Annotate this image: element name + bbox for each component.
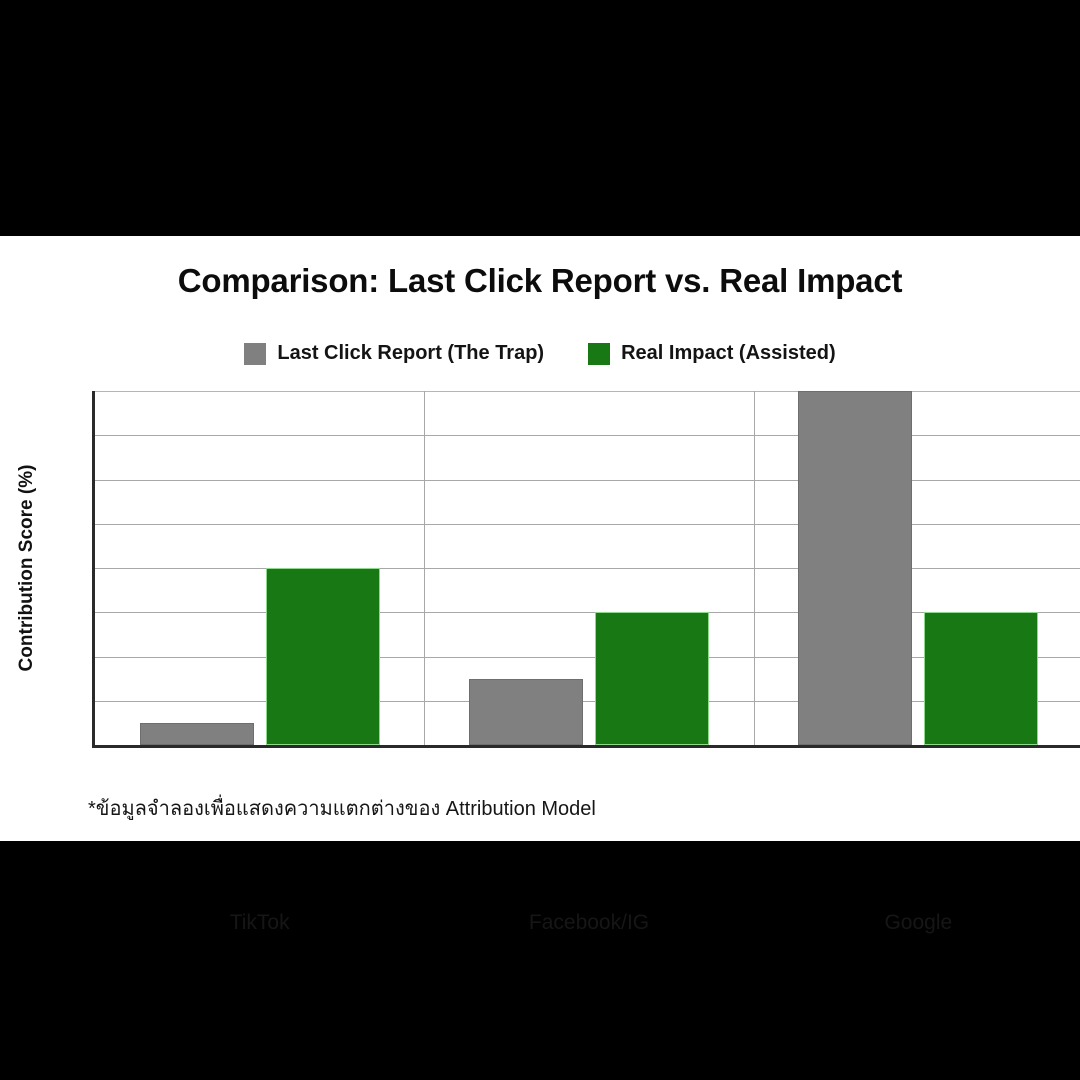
legend-entry-last-click: Last Click Report (The Trap) [244,342,544,365]
bar-google-series-0 [798,391,912,745]
bar-facebook-ig-series-1 [595,612,709,745]
chart-title: Comparison: Last Click Report vs. Real I… [0,262,1080,300]
category-separator-1 [424,391,425,745]
bar-tiktok-series-1 [266,568,380,745]
screenshot-canvas: Comparison: Last Click Report vs. Real I… [0,0,1080,1080]
gridline-70 [95,435,1080,436]
legend-entry-real-impact: Real Impact (Assisted) [588,342,836,365]
chart-figure: Comparison: Last Click Report vs. Real I… [0,236,1080,841]
legend-label-real-impact: Real Impact (Assisted) [621,342,836,365]
gridline-80 [95,391,1080,392]
legend-label-last-click: Last Click Report (The Trap) [277,342,544,365]
bar-tiktok-series-0 [140,723,254,745]
chart-legend: Last Click Report (The Trap) Real Impact… [0,342,1080,365]
legend-swatch-last-click [244,343,266,365]
x-tick-label-tiktok: TikTok [230,911,290,935]
gridline-40 [95,568,1080,569]
letterbox-band-bottom [0,841,1080,1080]
y-axis-title: Contribution Score (%) [16,465,38,672]
x-tick-label-google: Google [884,911,952,935]
chart-footnote: *ข้อมูลจำลองเพื่อแสดงความแตกต่างของ Attr… [88,792,596,824]
legend-swatch-real-impact [588,343,610,365]
bar-facebook-ig-series-0 [469,679,583,745]
category-separator-2 [754,391,755,745]
plot-area: 01020304050607080 Contribution Score (%)… [92,391,1080,748]
gridline-50 [95,524,1080,525]
letterbox-band-top [0,0,1080,236]
x-tick-label-facebook-ig: Facebook/IG [529,911,649,935]
gridline-60 [95,480,1080,481]
bar-google-series-1 [924,612,1038,745]
